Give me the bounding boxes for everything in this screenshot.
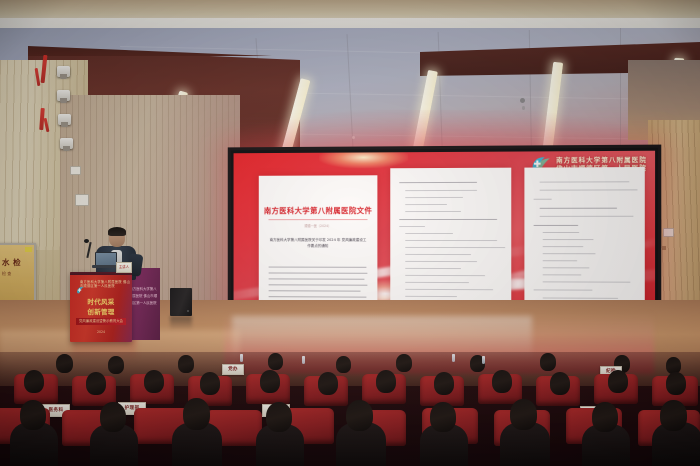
audience-head [336, 356, 351, 373]
audience-head [430, 402, 456, 432]
podium-slogan-line-2: 创新管理 [70, 306, 132, 316]
audience-head [266, 402, 292, 432]
sign-yellow-tag [25, 247, 32, 252]
document-title: 南方医科大学第八附属医院文件 [259, 205, 378, 216]
stage-spotlight [58, 114, 71, 125]
audience-head [24, 370, 44, 393]
audience-head [660, 400, 687, 431]
water-bottle [240, 354, 243, 362]
document-red-rule [268, 219, 367, 220]
audience-head [540, 353, 556, 371]
audience-head [268, 353, 283, 370]
audience-head [666, 372, 686, 395]
audience-head [200, 372, 220, 395]
audience-head [260, 370, 280, 393]
audience-head [608, 370, 628, 393]
podium-banner-text: 党风廉政建设暨警示教育大会 [70, 318, 132, 325]
document-subtitle: 顺德一医〔2024〕 [259, 223, 378, 228]
loudspeaker-reflection [170, 316, 192, 330]
audience-head [346, 400, 373, 431]
slide-document-title-page: 南方医科大学第八附属医院文件 顺德一医〔2024〕 南方医科大学第八附属医院关于… [259, 175, 378, 311]
audience-head [592, 402, 618, 432]
led-screen-surface: 南方医科大学第八附属医院 佛山市顺德区第一人民医院 南方医科大学第八附属医院文件… [234, 151, 656, 316]
water-bottle [302, 356, 305, 364]
speaker-podium: 南方医科大学第八附属医院 佛山市顺德区第一人民医院 时代风采 创新管理 党风廉政… [70, 272, 132, 342]
audience-seating-area: 党办 纪检 医务科 护理部 财务科 [0, 352, 700, 466]
audience-head [100, 402, 126, 432]
seat-name-card: 党办 [222, 364, 244, 375]
microphone-head-icon [84, 239, 89, 243]
audience-head [318, 372, 338, 395]
stage-spotlight [60, 138, 73, 149]
audience-head [144, 370, 164, 393]
screen-top-flare [319, 151, 408, 169]
wall-control-panel [75, 194, 89, 206]
audience-head [178, 355, 194, 373]
audience-head [56, 354, 73, 373]
water-bottle [452, 354, 455, 362]
audience-head [396, 354, 412, 372]
audience-head [376, 370, 396, 393]
conference-hall-photo: 水 检 检 查 [0, 0, 700, 466]
wall-outlet-box [663, 228, 674, 237]
led-display-screen[interactable]: 南方医科大学第八附属医院 佛山市顺德区第一人民医院 南方医科大学第八附属医院文件… [228, 145, 662, 322]
podium-side-text: 南方医科大学第八附属医院 佛山市顺德区第一人民医院 [128, 286, 158, 307]
audience-head [434, 372, 454, 395]
audience-head [108, 356, 124, 374]
speaker-name-plate: 主讲人 [116, 262, 132, 273]
audience-head [510, 399, 537, 430]
slide-document-body-page-1 [390, 168, 511, 313]
audience-head [550, 372, 570, 395]
document-heading: 南方医科大学第八附属医院关于印发 2024 年 党风廉政建设工作要点的通知 [268, 237, 367, 249]
loudspeaker-cabinet [170, 288, 192, 316]
podium-date-text: 2024 [70, 330, 132, 334]
speaker-hair [108, 227, 126, 236]
wall-dark-spot [662, 246, 666, 250]
podium-org-text: 南方医科大学第八附属医院 佛山市顺德区第一人民医院 [80, 280, 132, 289]
laptop-base [92, 265, 118, 268]
wall-sign-title: 水 检 [2, 257, 32, 268]
wall-sign-subtitle: 检 查 [2, 271, 32, 277]
audience-head [86, 372, 106, 395]
speaker-name-plate-text: 主讲人 [117, 264, 131, 269]
slide-document-body-page-2 [524, 167, 644, 313]
stage-spotlight [57, 90, 70, 101]
water-bottle [482, 356, 485, 364]
podium-slogan-line-1: 时代风采 [70, 296, 132, 306]
audience-head [20, 400, 46, 430]
audience-head [492, 370, 512, 393]
stage-spotlight [57, 66, 70, 77]
audience-head [183, 398, 210, 430]
wall-outlet-box [70, 166, 81, 175]
